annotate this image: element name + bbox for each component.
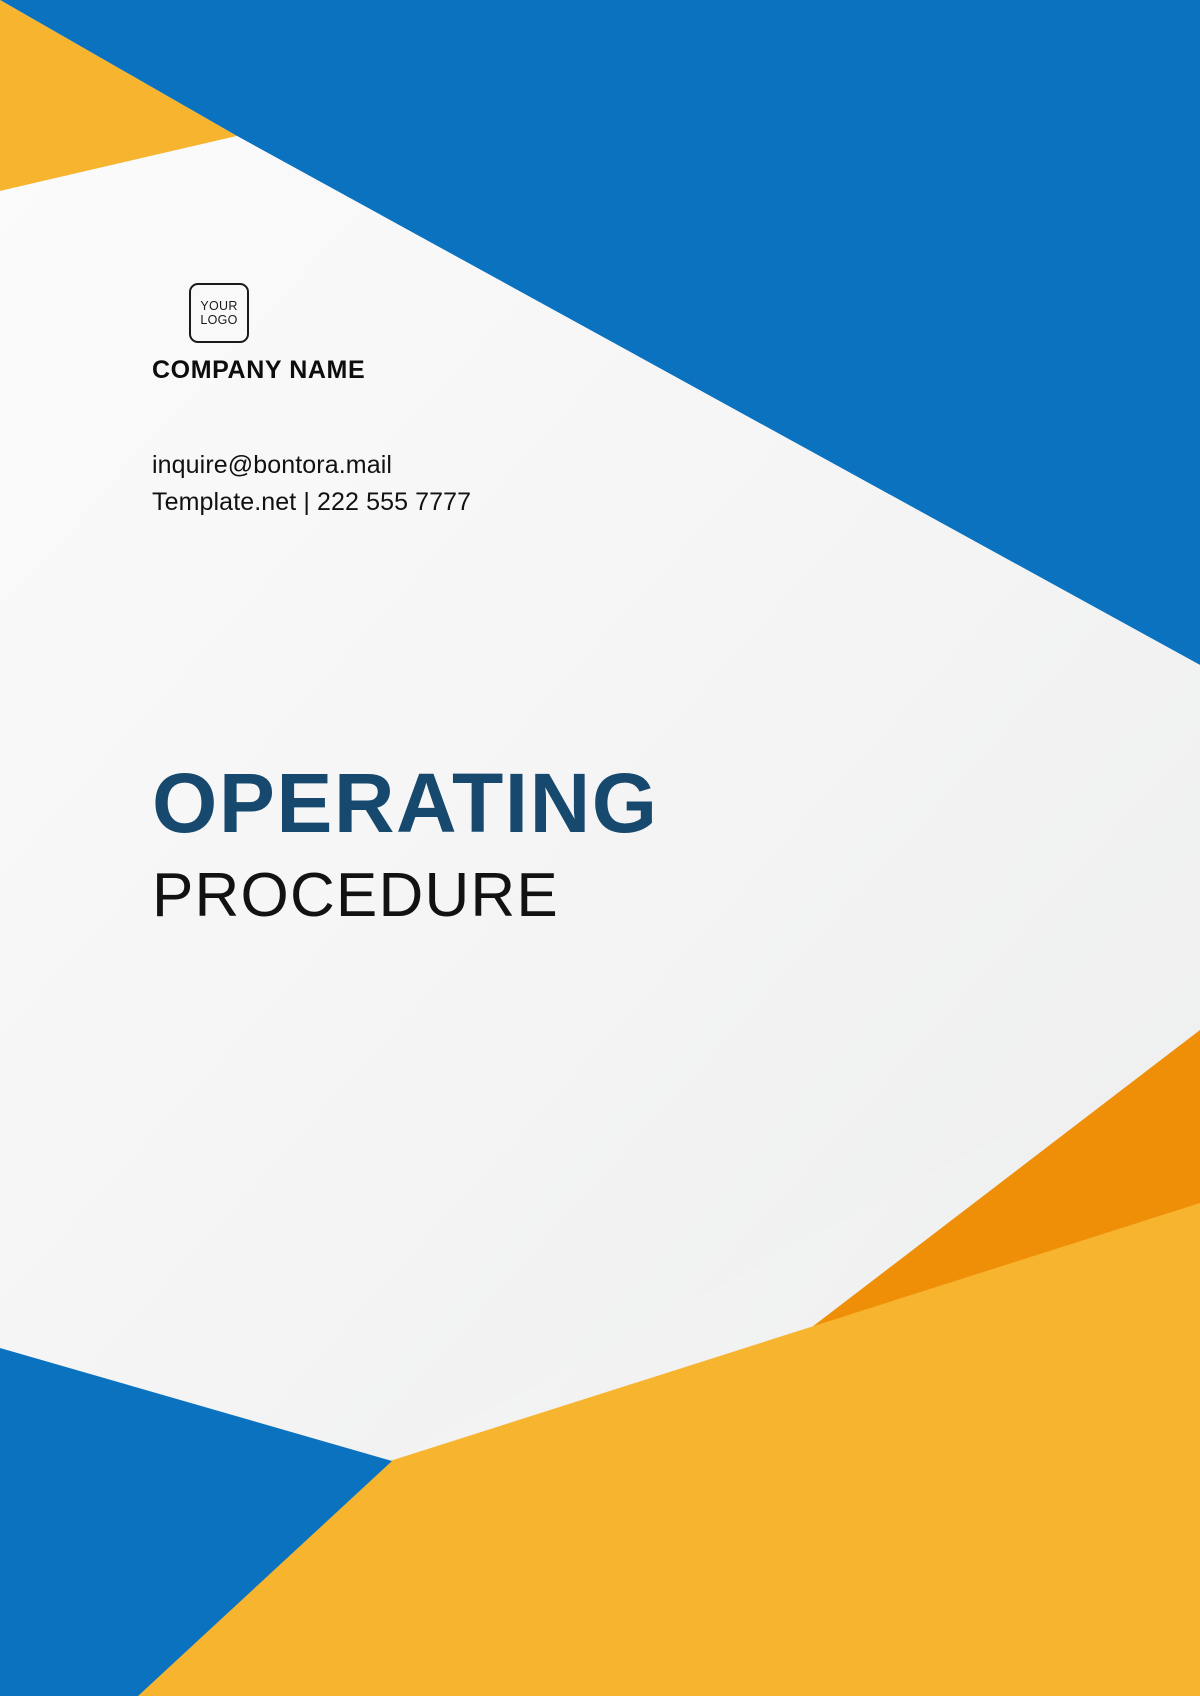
- cover-page: YOUR LOGO COMPANY NAME inquire@bontora.m…: [0, 0, 1200, 1696]
- document-title: OPERATING: [152, 757, 659, 849]
- contact-website-phone: Template.net | 222 555 7777: [152, 484, 471, 521]
- cover-content: YOUR LOGO COMPANY NAME inquire@bontora.m…: [0, 0, 1200, 1696]
- brand-block: YOUR LOGO COMPANY NAME: [152, 283, 572, 385]
- contact-email: inquire@bontora.mail: [152, 447, 471, 484]
- title-block: OPERATING PROCEDURE: [152, 757, 659, 931]
- logo-text-line-2: LOGO: [200, 313, 237, 327]
- document-subtitle: PROCEDURE: [152, 861, 659, 931]
- logo-text-line-1: YOUR: [200, 299, 237, 313]
- logo-placeholder-box[interactable]: YOUR LOGO: [189, 283, 249, 343]
- company-name: COMPANY NAME: [152, 356, 572, 385]
- contact-block: inquire@bontora.mail Template.net | 222 …: [152, 447, 471, 521]
